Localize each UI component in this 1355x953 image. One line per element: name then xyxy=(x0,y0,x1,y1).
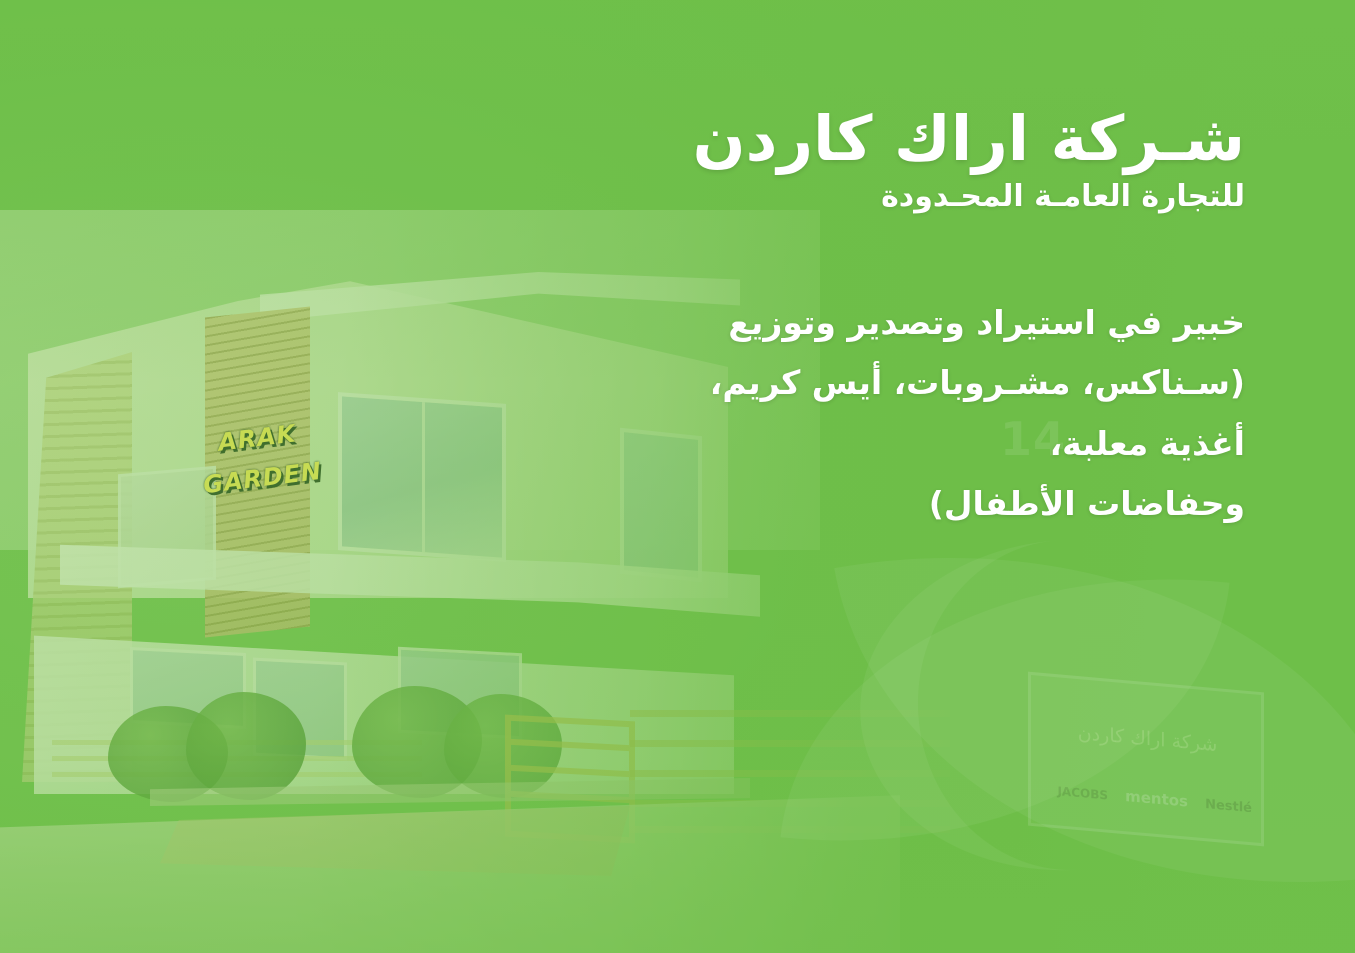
photo-sign-pillar xyxy=(205,306,310,637)
billboard-brand-logos: Nestlé mentos JACOBS xyxy=(1038,778,1258,816)
photo-yellow-fence xyxy=(630,706,950,832)
promo-banner: ARAK GARDEN xyxy=(0,0,1355,953)
brand-logo-nestle: Nestlé xyxy=(1205,797,1252,816)
billboard-watermark xyxy=(1028,672,1264,847)
company-subtitle: للتجارة العامـة المحـدودة xyxy=(585,179,1245,215)
photo-shrub xyxy=(108,706,228,802)
photo-cantilever-eave xyxy=(60,540,760,620)
photo-window-ground-2 xyxy=(253,658,347,761)
leaf-watermark-secondary-icon xyxy=(780,539,1229,881)
brand-logo-jacobs: JACOBS xyxy=(1057,784,1108,802)
swoosh-watermark-icon xyxy=(849,526,1289,884)
photo-yellow-gate xyxy=(505,715,635,844)
photo-shrub xyxy=(444,694,562,798)
photo-ground-floor xyxy=(34,614,734,794)
description-line-3: أغذية معلبة، xyxy=(585,414,1245,474)
photo-window-left-upper xyxy=(118,466,216,589)
photo-pavement xyxy=(0,792,900,953)
company-description: خبير في استيراد وتصدير وتوزيع (سـناكس، م… xyxy=(585,293,1245,533)
description-line-4: وحفاضات الأطفال) xyxy=(585,474,1245,534)
photo-shrub xyxy=(186,692,306,800)
photo-curb xyxy=(150,778,750,806)
photo-slat-wing xyxy=(22,352,132,782)
photo-terrace-railing xyxy=(52,738,422,792)
photo-sand-patch xyxy=(160,806,630,876)
banner-content: شـركة اراك كاردن للتجارة العامـة المحـدو… xyxy=(585,0,1245,534)
description-line-1: خبير في استيراد وتصدير وتوزيع xyxy=(585,293,1245,353)
photo-shrub xyxy=(352,686,482,798)
description-line-2: (سـناكس، مشـروبات، أيس كريم، xyxy=(585,353,1245,413)
leaf-watermark-icon xyxy=(834,478,1355,953)
brand-logo-mentos: mentos xyxy=(1125,787,1188,811)
storefront-sign-line2: GARDEN xyxy=(202,457,324,499)
photo-window-large xyxy=(338,392,506,562)
photo-window-ground-3 xyxy=(398,647,522,739)
storefront-sign-line1: ARAK xyxy=(217,419,298,456)
company-title: شـركة اراك كاردن xyxy=(585,0,1245,173)
photo-window-ground-1 xyxy=(130,647,246,729)
billboard-arabic-text: شركة اراك كاردن xyxy=(1040,719,1255,760)
